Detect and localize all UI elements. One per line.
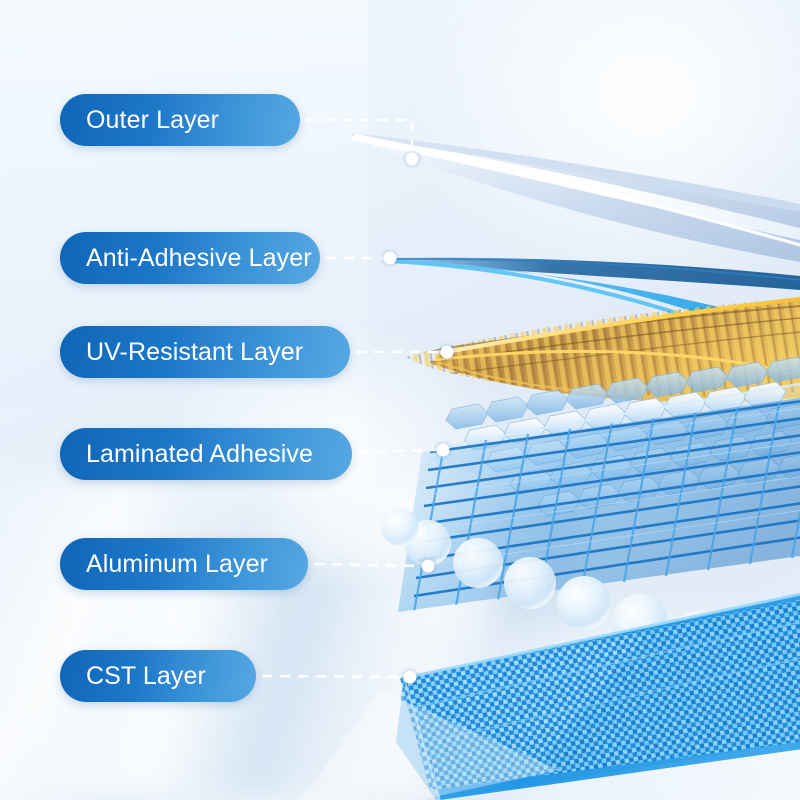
label-aluminum-layer-text: Aluminum Layer [86, 552, 268, 577]
label-laminated-adhesive-text: Laminated Adhesive [86, 442, 313, 467]
layer-structure-infographic: Outer Layer Anti-Adhesive Layer UV-Resis… [0, 0, 800, 800]
marker-outer-layer [406, 153, 419, 166]
label-laminated-adhesive[interactable]: Laminated Adhesive [60, 428, 352, 480]
connector-laminated-adhesive [358, 450, 438, 452]
label-anti-adhesive-layer[interactable]: Anti-Adhesive Layer [60, 232, 320, 284]
marker-aluminum-layer [422, 560, 435, 573]
label-aluminum-layer[interactable]: Aluminum Layer [60, 538, 308, 590]
label-uv-resistant-layer-text: UV-Resistant Layer [86, 340, 303, 365]
label-cst-layer[interactable]: CST Layer [60, 650, 256, 702]
connector-outer-layer [306, 120, 412, 152]
marker-laminated-adhesive [437, 444, 450, 457]
label-uv-resistant-layer[interactable]: UV-Resistant Layer [60, 326, 350, 378]
marker-cst-layer [404, 671, 417, 684]
marker-anti-adhesive-layer [384, 252, 397, 265]
marker-uv-resistant-layer [441, 346, 454, 359]
connector-cst-layer [262, 676, 405, 677]
connector-aluminum-layer [314, 564, 423, 566]
label-cst-layer-text: CST Layer [86, 664, 206, 689]
label-outer-layer-text: Outer Layer [86, 108, 219, 133]
label-outer-layer[interactable]: Outer Layer [60, 94, 300, 146]
label-anti-adhesive-layer-text: Anti-Adhesive Layer [86, 246, 312, 271]
